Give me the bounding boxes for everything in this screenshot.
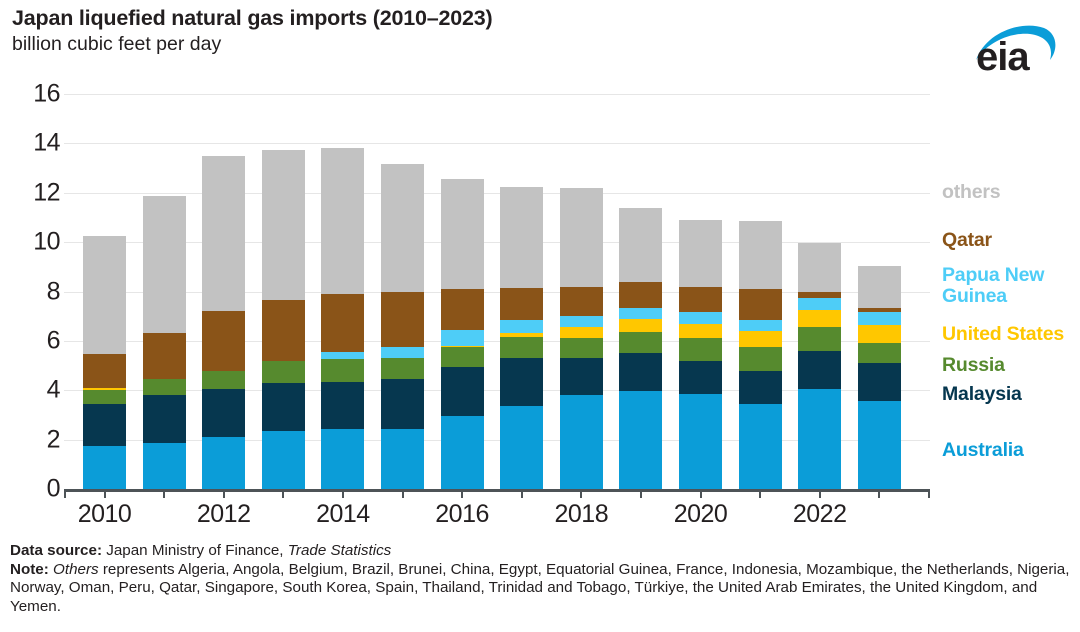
legend-item-united-states[interactable]: United States xyxy=(942,324,1064,345)
legend-item-russia[interactable]: Russia xyxy=(942,355,1005,376)
bar-segment[interactable] xyxy=(202,371,245,390)
bar-segment[interactable] xyxy=(560,395,603,489)
legend-item-papua-new-guinea[interactable]: Papua New Guinea xyxy=(942,265,1044,307)
bar-segment[interactable] xyxy=(321,359,364,381)
bar-segment[interactable] xyxy=(202,311,245,370)
bar-segment[interactable] xyxy=(202,389,245,437)
bar-segment[interactable] xyxy=(679,220,722,287)
bar-segment[interactable] xyxy=(560,327,603,338)
stacked-bar[interactable] xyxy=(739,219,782,489)
bar-segment[interactable] xyxy=(143,379,186,395)
bar-segment[interactable] xyxy=(679,394,722,489)
bar-segment[interactable] xyxy=(500,337,543,358)
bar-segment[interactable] xyxy=(262,150,305,301)
legend-item-qatar[interactable]: Qatar xyxy=(942,230,992,251)
bar-segment[interactable] xyxy=(560,338,603,358)
bar-segment[interactable] xyxy=(739,221,782,289)
note-line: Note: Others represents Algeria, Angola,… xyxy=(10,561,1074,617)
bar-segment[interactable] xyxy=(83,236,126,355)
bar-segment[interactable] xyxy=(83,354,126,387)
bar-segment[interactable] xyxy=(381,292,424,348)
bar-segment[interactable] xyxy=(441,289,484,330)
bar-segment[interactable] xyxy=(619,308,662,319)
stacked-bar[interactable] xyxy=(798,245,841,489)
bar-segment[interactable] xyxy=(858,325,901,344)
stacked-bar[interactable] xyxy=(262,152,305,489)
stacked-bar[interactable] xyxy=(560,188,603,489)
bar-segment[interactable] xyxy=(321,148,364,294)
bar-segment[interactable] xyxy=(321,294,364,352)
note-italic: Others xyxy=(53,561,99,578)
bar-segment[interactable] xyxy=(441,347,484,367)
bar-segment[interactable] xyxy=(500,333,543,337)
bar-segment[interactable] xyxy=(381,429,424,489)
bar-segment[interactable] xyxy=(679,287,722,313)
bar-segment[interactable] xyxy=(858,363,901,401)
note-text: represents Algeria, Angola, Belgium, Bra… xyxy=(10,561,1069,615)
data-source-italic: Trade Statistics xyxy=(288,542,392,559)
bar-segment[interactable] xyxy=(798,292,841,298)
bar-segment[interactable] xyxy=(381,379,424,428)
bar-segment[interactable] xyxy=(441,346,484,347)
bar-segment[interactable] xyxy=(262,300,305,360)
bar-segment[interactable] xyxy=(619,208,662,282)
stacked-bar[interactable] xyxy=(619,209,662,489)
stacked-bar[interactable] xyxy=(143,196,186,489)
bar-segment[interactable] xyxy=(619,353,662,391)
bar-segment[interactable] xyxy=(500,187,543,288)
stacked-bar[interactable] xyxy=(858,266,901,489)
bar-segment[interactable] xyxy=(381,358,424,379)
bar-segment[interactable] xyxy=(143,333,186,379)
bar-segment[interactable] xyxy=(262,383,305,431)
bar-segment[interactable] xyxy=(560,316,603,327)
bar-segment[interactable] xyxy=(798,298,841,310)
bar-segment[interactable] xyxy=(619,332,662,353)
stacked-bar[interactable] xyxy=(441,179,484,489)
bar-segment[interactable] xyxy=(858,312,901,324)
bar-segment[interactable] xyxy=(321,352,364,359)
bar-segment[interactable] xyxy=(202,437,245,489)
stacked-bar[interactable] xyxy=(83,236,126,489)
bar-segment[interactable] xyxy=(679,324,722,339)
legend-item-others[interactable]: others xyxy=(942,182,1000,203)
bar-segment[interactable] xyxy=(739,289,782,320)
data-source-text: Japan Ministry of Finance, xyxy=(102,542,288,559)
bar-segment[interactable] xyxy=(679,361,722,394)
bar-segment[interactable] xyxy=(441,330,484,346)
bar-segment[interactable] xyxy=(321,429,364,489)
stacked-bar[interactable] xyxy=(500,184,543,489)
bar-segment[interactable] xyxy=(143,196,186,333)
bar-segment[interactable] xyxy=(381,164,424,291)
bar-segment[interactable] xyxy=(798,351,841,389)
bar-segment[interactable] xyxy=(739,331,782,347)
bar-segment[interactable] xyxy=(441,367,484,416)
bar-segment[interactable] xyxy=(500,406,543,489)
bar-segment[interactable] xyxy=(83,390,126,404)
bar-segment[interactable] xyxy=(441,416,484,489)
stacked-bar[interactable] xyxy=(679,220,722,489)
bar-series-container xyxy=(0,0,1080,632)
bar-segment[interactable] xyxy=(560,188,603,287)
bar-segment[interactable] xyxy=(560,287,603,317)
bar-segment[interactable] xyxy=(619,391,662,489)
bar-segment[interactable] xyxy=(739,404,782,489)
bar-segment[interactable] xyxy=(858,308,901,313)
bar-segment[interactable] xyxy=(858,266,901,308)
bar-segment[interactable] xyxy=(143,395,186,443)
legend-item-australia[interactable]: Australia xyxy=(942,440,1024,461)
bar-segment[interactable] xyxy=(83,446,126,489)
bar-segment[interactable] xyxy=(679,312,722,323)
bar-segment[interactable] xyxy=(500,358,543,406)
bar-segment[interactable] xyxy=(83,404,126,446)
bar-segment[interactable] xyxy=(798,327,841,350)
bar-segment[interactable] xyxy=(262,361,305,383)
bar-segment[interactable] xyxy=(739,320,782,331)
bar-segment[interactable] xyxy=(441,179,484,289)
bar-segment[interactable] xyxy=(679,338,722,360)
bar-segment[interactable] xyxy=(500,288,543,320)
bar-segment[interactable] xyxy=(381,347,424,358)
chart-legend: othersQatarPapua New GuineaUnited States… xyxy=(936,0,1080,500)
bar-segment[interactable] xyxy=(202,156,245,312)
footnotes: Data source: Japan Ministry of Finance, … xyxy=(10,542,1074,616)
bar-segment[interactable] xyxy=(83,388,126,390)
stacked-bar[interactable] xyxy=(321,148,364,489)
bar-segment[interactable] xyxy=(798,243,841,291)
bar-segment[interactable] xyxy=(858,401,901,489)
bar-segment[interactable] xyxy=(560,358,603,395)
bar-segment[interactable] xyxy=(619,282,662,308)
note-label: Note: xyxy=(10,561,49,578)
data-source-line: Data source: Japan Ministry of Finance, … xyxy=(10,542,1074,561)
bar-segment[interactable] xyxy=(143,443,186,489)
data-source-label: Data source: xyxy=(10,542,102,559)
legend-item-malaysia[interactable]: Malaysia xyxy=(942,384,1022,405)
bar-segment[interactable] xyxy=(321,382,364,429)
bar-segment[interactable] xyxy=(798,389,841,489)
stacked-bar[interactable] xyxy=(381,164,424,489)
bar-segment[interactable] xyxy=(798,310,841,327)
bar-segment[interactable] xyxy=(500,320,543,334)
stacked-bar[interactable] xyxy=(202,156,245,489)
bar-segment[interactable] xyxy=(619,319,662,333)
bar-segment[interactable] xyxy=(739,371,782,404)
bar-segment[interactable] xyxy=(739,347,782,370)
bar-segment[interactable] xyxy=(858,343,901,363)
bar-segment[interactable] xyxy=(262,431,305,489)
